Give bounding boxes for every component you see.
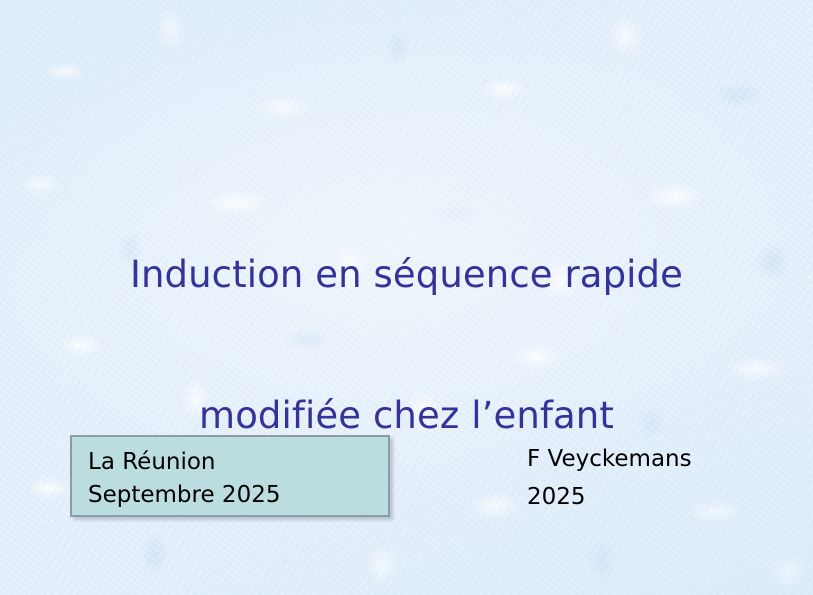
slide-title-line-2: modifiée chez l’enfant bbox=[0, 392, 813, 439]
author-name: F Veyckemans bbox=[527, 440, 692, 478]
author-year: 2025 bbox=[527, 478, 692, 516]
slide-title-line-1: Induction en séquence rapide bbox=[0, 251, 813, 298]
location-box: La Réunion Septembre 2025 bbox=[70, 435, 390, 517]
location-date: Septembre 2025 bbox=[88, 479, 388, 512]
location-name: La Réunion bbox=[88, 446, 388, 479]
author-block: F Veyckemans 2025 bbox=[527, 440, 692, 516]
presentation-slide: Induction en séquence rapide modifiée ch… bbox=[0, 0, 813, 595]
